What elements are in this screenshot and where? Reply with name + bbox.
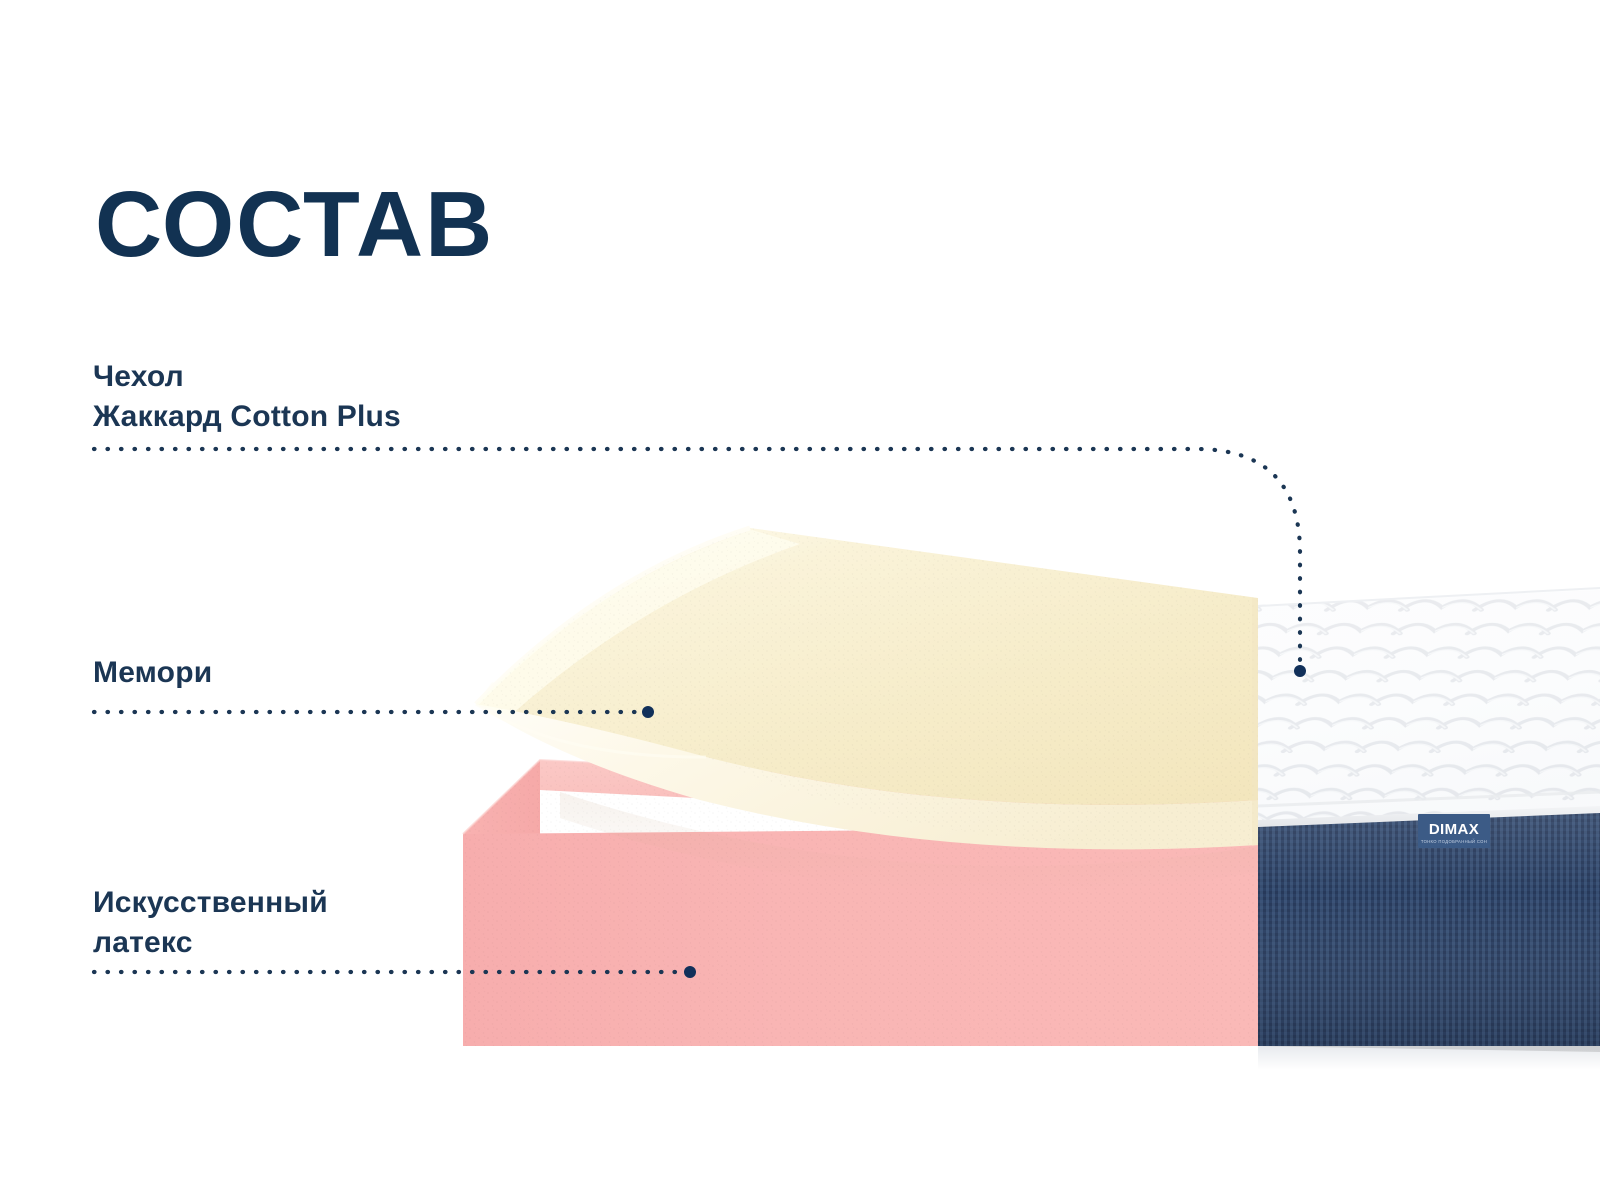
layer-label-memory: Мемори	[93, 653, 212, 693]
cover-layer	[1240, 580, 1600, 840]
leader-endpoint-cover	[1294, 665, 1306, 677]
svg-text:ТОНКО ПОДОБРАННЫЙ СОН: ТОНКО ПОДОБРАННЫЙ СОН	[1421, 839, 1487, 844]
layer-label-cover: Чехол Жаккард Cotton Plus	[93, 357, 401, 437]
layer-label-latex: Искусственный латекс	[93, 883, 328, 963]
leader-endpoint-latex	[684, 966, 696, 978]
dimax-logo-tag: DIMAX ТОНКО ПОДОБРАННЫЙ СОН	[1418, 814, 1490, 848]
leader-endpoint-memory	[642, 706, 654, 718]
page-title: СОСТАВ	[95, 178, 494, 271]
svg-text:DIMAX: DIMAX	[1429, 821, 1479, 838]
slide-canvas: DIMAX ТОНКО ПОДОБРАННЫЙ СОН СОСТАВ Чехол…	[0, 0, 1600, 1201]
